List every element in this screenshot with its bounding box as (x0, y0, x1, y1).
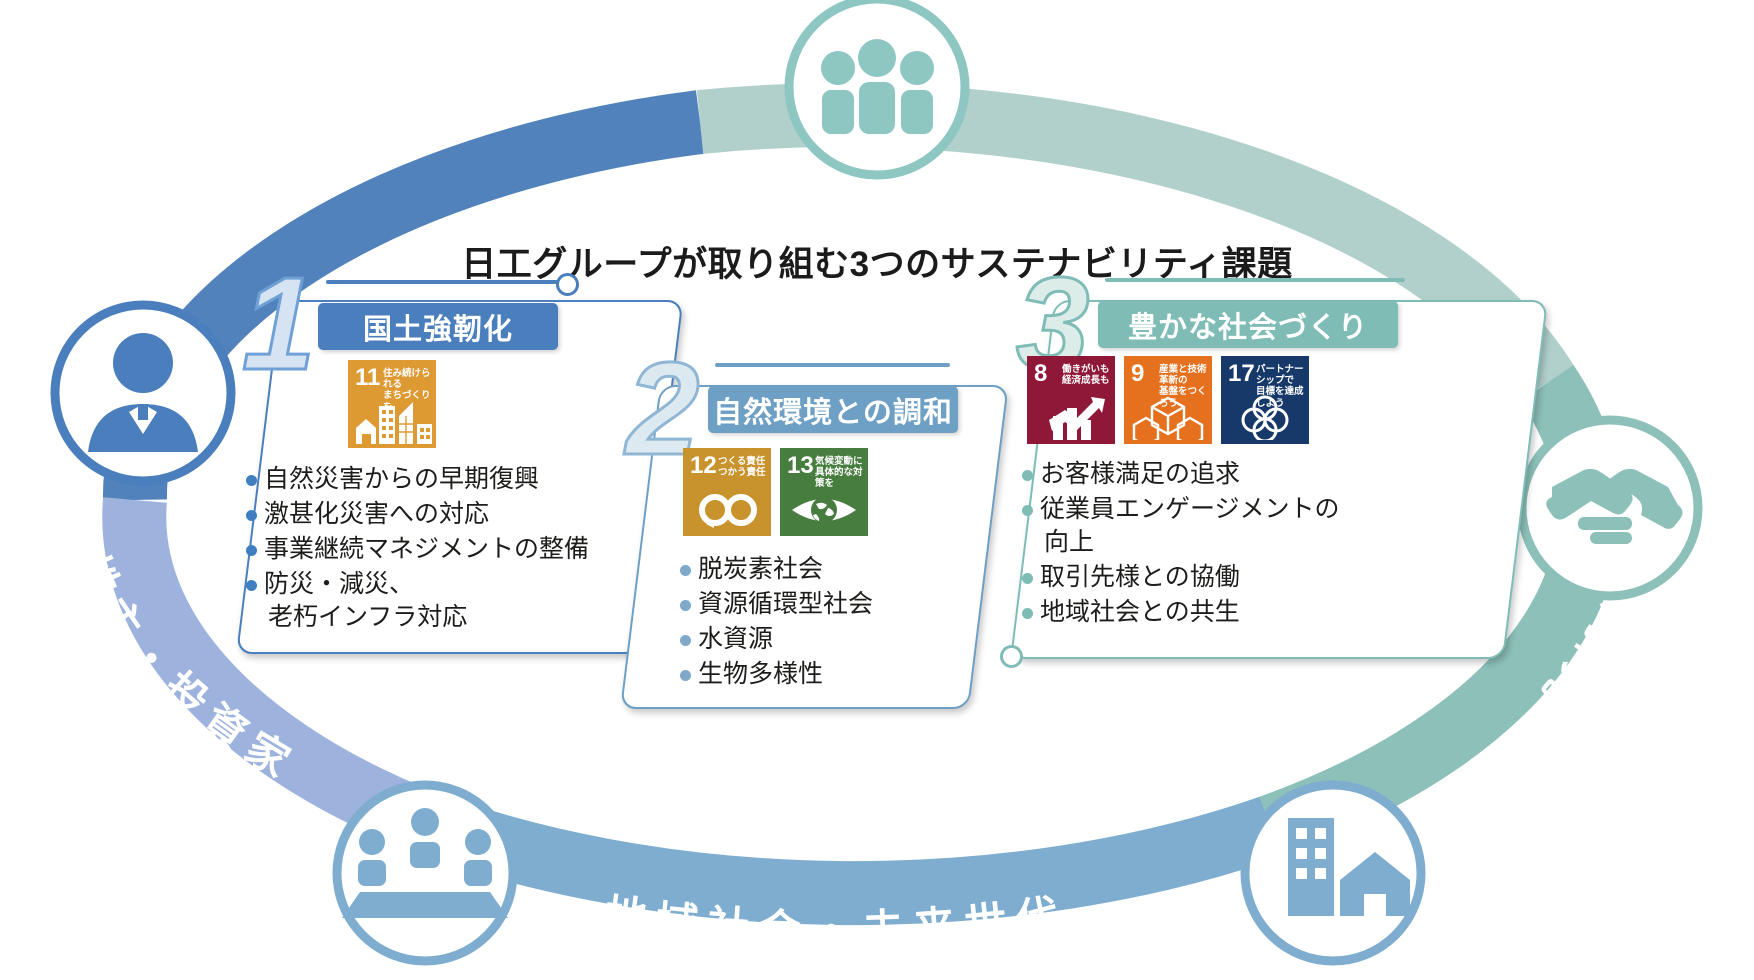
card2-sdg-row: 12 つくる責任 つかう責任 13 気候変動に 具体的な対策を (683, 448, 868, 536)
sdg-17: 17 パートナーシップで 目標を達成しよう (1221, 356, 1309, 444)
card1-top-dot (556, 273, 579, 296)
city-icon (348, 398, 436, 444)
card2-heading: 自然環境との調和 (708, 386, 958, 433)
card2-bullets: 脱炭素社会 資源循環型社会 水資源 生物多様性 (678, 553, 873, 693)
card2-top-line (715, 363, 950, 367)
list-item: 従業員エンゲージメントの 向上 (1020, 493, 1340, 559)
page-title: 日工グループが取り組む3つのサステナビリティ課題 (0, 236, 1754, 287)
infinity-icon (683, 486, 771, 532)
list-item: 生物多様性 (678, 658, 873, 691)
list-item: 水資源 (678, 623, 873, 656)
sdg-13-number: 13 (787, 454, 814, 478)
list-item: 激甚化災害への対応 (244, 498, 589, 531)
list-item: 取引先様との協働 (1020, 561, 1340, 594)
shareholders-node (55, 305, 231, 481)
customers-node (1522, 420, 1698, 596)
sdg-13-text: 気候変動に 具体的な対策を (815, 456, 865, 490)
sdg-11-number: 11 (355, 366, 380, 390)
card3-top-line (1105, 278, 1405, 282)
card2-content: 2 自然環境との調和 12 つくる責任 つかう責任 13 気候変動に 具体的な対… (620, 385, 965, 705)
card1-content: 1 国土強靭化 11 住み続けられる まちづくりを (236, 300, 636, 650)
list-item: お客様満足の追求 (1020, 458, 1340, 491)
list-item: 地域社会との共生 (1020, 596, 1340, 629)
card1-heading: 国土強靭化 (318, 303, 558, 350)
sdg-11: 11 住み続けられる まちづくりを (348, 360, 436, 448)
sustainability-diagram: 従業員 お客様 取引先 地域社会・未来世代 株主・投資家 (0, 0, 1754, 980)
ring-label-customers: お客様 (1192, 37, 1354, 147)
card3-sdg-row: 8 働きがいも 経済成長も 9 産業と技術革新の 基盤をつくろう (1027, 356, 1309, 444)
list-item: 資源循環型社会 (678, 588, 873, 621)
list-item: 脱炭素社会 (678, 553, 873, 586)
list-item: 自然災害からの早期復興 (244, 463, 589, 496)
business-partners-node (1245, 785, 1421, 961)
sdg-17-number: 17 (1228, 362, 1255, 386)
eye-globe-icon (780, 486, 868, 532)
ring-segment-community (409, 816, 1270, 893)
sdg-9-number: 9 (1131, 362, 1144, 386)
list-item: 防災・減災、 老朽インフラ対応 (244, 568, 589, 634)
cubes-icon (1124, 394, 1212, 440)
sdg-12-text: つくる責任 つかう責任 (718, 456, 768, 478)
card1-sdg-row: 11 住み続けられる まちづくりを (348, 360, 436, 448)
sdg-9: 9 産業と技術革新の 基盤をつくろう (1124, 356, 1212, 444)
card1-bullets: 自然災害からの早期復興 激甚化災害への対応 事業継続マネジメントの整備 防災・減… (244, 463, 589, 636)
card1-top-line (326, 280, 571, 284)
card3-heading: 豊かな社会づくり (1098, 301, 1398, 348)
rings-icon (1221, 394, 1309, 440)
list-item-sub: 向上 (1040, 526, 1340, 559)
sdg-8-number: 8 (1034, 362, 1047, 386)
sdg-13: 13 気候変動に 具体的な対策を (780, 448, 868, 536)
card3-bullets: お客様満足の追求 従業員エンゲージメントの 向上 取引先様との協働 地域社会との… (1020, 458, 1340, 631)
list-item-sub: 老朽インフラ対応 (264, 601, 589, 634)
employees-node (789, 0, 965, 175)
sdg-12-number: 12 (690, 454, 717, 478)
card3-content: 3 豊かな社会づくり 8 働きがいも 経済成長も 9 産業と技術革新の (1010, 300, 1500, 655)
list-item: 事業継続マネジメントの整備 (244, 533, 589, 566)
community-node (337, 785, 513, 961)
sdg-8-text: 働きがいも 経済成長も (1062, 364, 1112, 386)
sdg-12: 12 つくる責任 つかう責任 (683, 448, 771, 536)
sdg-8: 8 働きがいも 経済成長も (1027, 356, 1115, 444)
growth-chart-icon (1027, 394, 1115, 440)
card3-bottom-dot (1000, 645, 1023, 668)
